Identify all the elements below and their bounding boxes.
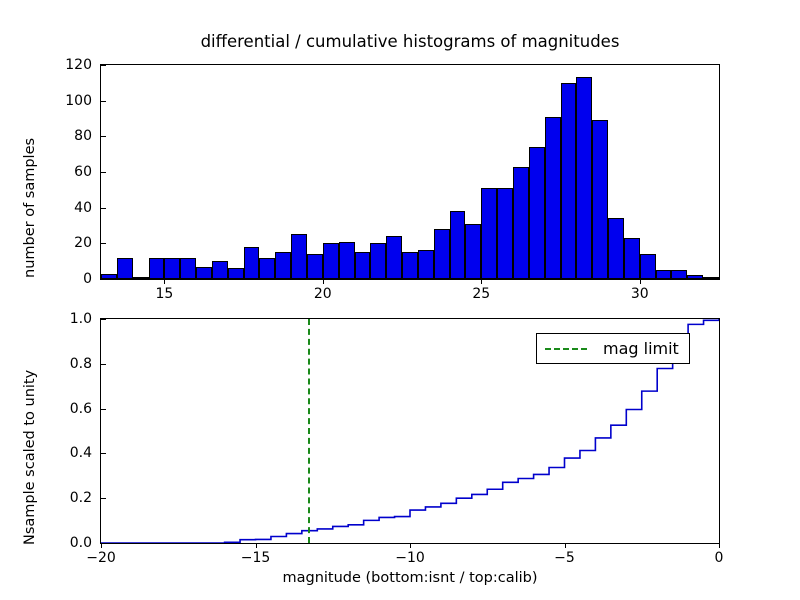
histogram-bar	[434, 229, 450, 279]
y-tick-mark	[101, 364, 106, 365]
x-tick-label: −5	[554, 550, 575, 566]
top-panel-axes	[100, 64, 720, 280]
y-tick-label: 0.8	[38, 356, 92, 372]
histogram-bar	[450, 211, 466, 279]
y-tick-label: 40	[38, 200, 92, 216]
x-tick-label: 15	[155, 286, 173, 302]
histogram-bar	[117, 258, 133, 279]
figure-canvas: differential / cumulative histograms of …	[0, 0, 800, 600]
histogram-bar	[671, 270, 687, 279]
y-tick-mark	[101, 172, 106, 173]
x-tick-mark	[164, 279, 165, 284]
x-tick-label: −10	[395, 550, 425, 566]
histogram-bar	[465, 224, 481, 279]
y-tick-label: 1.0	[38, 311, 92, 327]
histogram-bar	[703, 277, 719, 279]
y-tick-mark	[101, 498, 106, 499]
histogram-bar	[402, 252, 418, 279]
y-tick-label: 0.6	[38, 401, 92, 417]
histogram-bar	[513, 167, 529, 279]
histogram-bar	[576, 77, 592, 279]
histogram-plot-area	[101, 65, 719, 279]
y-tick-mark	[101, 101, 106, 102]
x-tick-label: 25	[472, 286, 490, 302]
bottom-panel-ylabel: Nsample scaled to unity	[22, 370, 38, 545]
legend: mag limit	[536, 333, 690, 364]
y-tick-label: 100	[38, 93, 92, 109]
x-tick-mark	[101, 543, 102, 548]
x-tick-mark	[256, 543, 257, 548]
x-tick-mark	[719, 543, 720, 548]
histogram-bar	[624, 238, 640, 279]
y-tick-mark	[101, 319, 106, 320]
histogram-bar	[212, 261, 228, 279]
legend-entry-label: mag limit	[603, 339, 679, 358]
x-tick-mark	[323, 279, 324, 284]
x-tick-mark	[410, 543, 411, 548]
histogram-bar	[370, 243, 386, 279]
histogram-bar	[323, 243, 339, 279]
histogram-bar	[640, 254, 656, 279]
x-tick-label: 20	[314, 286, 332, 302]
histogram-bar	[180, 258, 196, 279]
chart-xlabel: magnitude (bottom:isnt / top:calib)	[100, 570, 720, 586]
histogram-bar	[307, 254, 323, 279]
histogram-bar	[481, 188, 497, 279]
histogram-bar	[545, 117, 561, 279]
y-tick-label: 80	[38, 128, 92, 144]
chart-title: differential / cumulative histograms of …	[100, 32, 720, 51]
histogram-bar	[529, 147, 545, 279]
y-tick-label: 60	[38, 164, 92, 180]
y-tick-label: 20	[38, 235, 92, 251]
y-tick-mark	[101, 65, 106, 66]
histogram-bar	[228, 268, 244, 279]
x-tick-label: −15	[241, 550, 271, 566]
y-tick-label: 120	[38, 57, 92, 73]
y-tick-mark	[101, 208, 106, 209]
histogram-bar	[656, 270, 672, 279]
x-tick-label: −20	[86, 550, 116, 566]
histogram-bar	[608, 218, 624, 279]
histogram-bar	[355, 252, 371, 279]
x-tick-label: 30	[631, 286, 649, 302]
x-tick-label: 0	[715, 550, 724, 566]
histogram-bar	[291, 234, 307, 279]
y-tick-mark	[101, 243, 106, 244]
y-tick-mark	[101, 453, 106, 454]
mag-limit-line	[308, 319, 310, 543]
histogram-bar	[196, 267, 212, 279]
histogram-bar	[275, 252, 291, 279]
x-tick-mark	[565, 543, 566, 548]
y-tick-label: 0.2	[38, 490, 92, 506]
histogram-bar	[386, 236, 402, 279]
histogram-bar	[561, 83, 577, 279]
y-tick-label: 0.4	[38, 445, 92, 461]
x-tick-mark	[640, 279, 641, 284]
histogram-bar	[418, 250, 434, 279]
histogram-bar	[149, 258, 165, 279]
histogram-bar	[164, 258, 180, 279]
mag-limit-legend-swatch	[545, 348, 587, 350]
histogram-bar	[339, 242, 355, 279]
histogram-bar	[592, 120, 608, 279]
histogram-bar	[244, 247, 260, 279]
x-tick-mark	[481, 279, 482, 284]
top-panel-ylabel: number of samples	[22, 138, 38, 278]
y-tick-mark	[101, 279, 106, 280]
histogram-bar	[497, 188, 513, 279]
y-tick-label: 0.0	[38, 535, 92, 551]
y-tick-label: 0	[38, 271, 92, 287]
y-tick-mark	[101, 136, 106, 137]
histogram-bar	[687, 275, 703, 279]
histogram-bar	[259, 258, 275, 279]
histogram-bar	[133, 277, 149, 279]
y-tick-mark	[101, 409, 106, 410]
bottom-panel-axes: mag limit	[100, 318, 720, 544]
